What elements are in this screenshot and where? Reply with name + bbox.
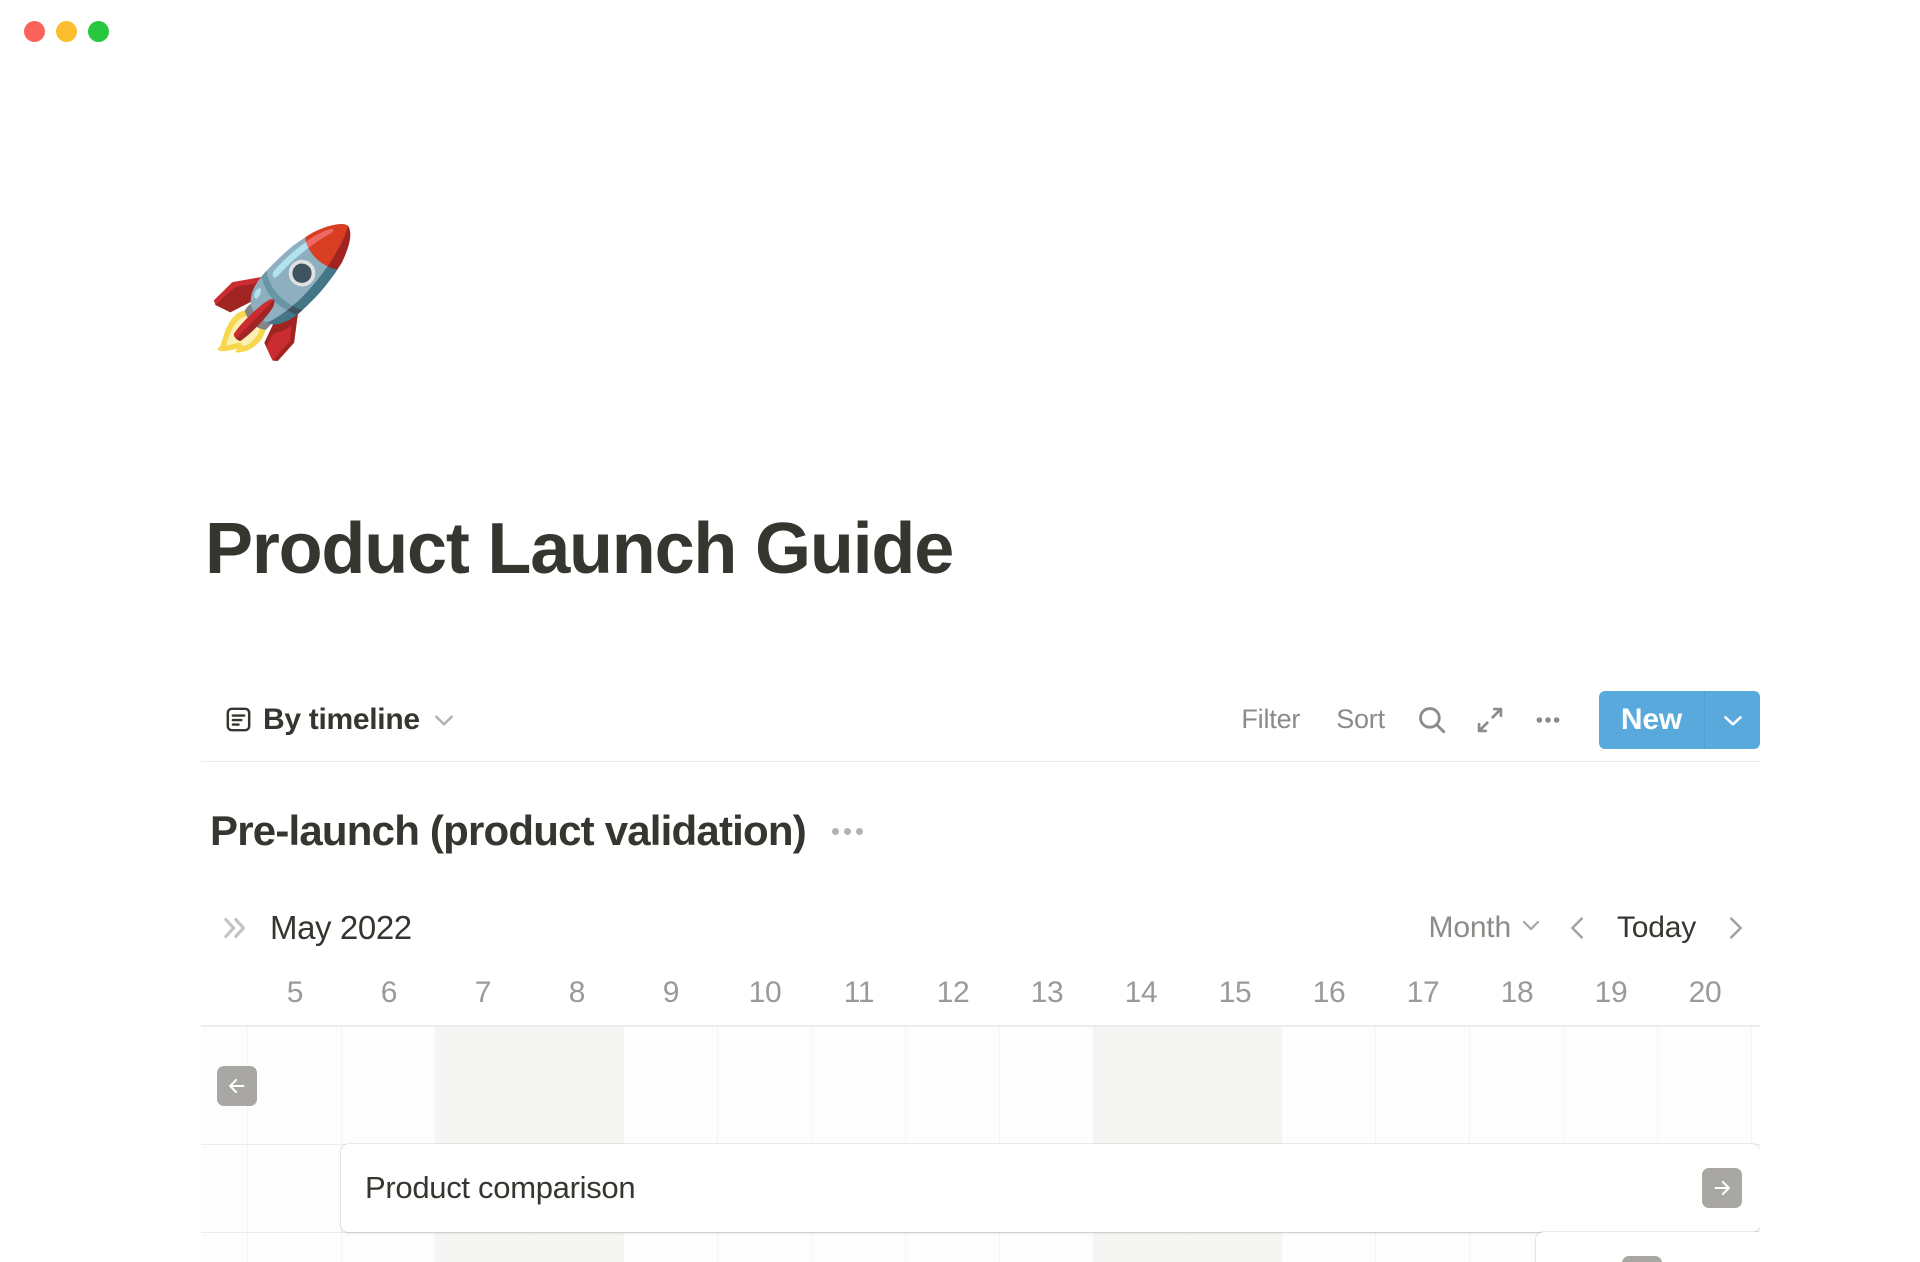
- timeline-day-9: 9: [624, 960, 718, 1025]
- timeline-nav-controls: Month Today: [1419, 905, 1760, 951]
- chevron-down-icon: [431, 707, 457, 733]
- timeline-day-13: 13: [1000, 960, 1094, 1025]
- rocket-icon[interactable]: 🚀: [205, 230, 359, 354]
- new-dropdown-chevron-down-icon[interactable]: [1704, 691, 1760, 749]
- timeline-item-card[interactable]: Competitor: [1536, 1232, 1760, 1262]
- close-window-button[interactable]: [24, 21, 45, 42]
- timeline-nav: May 2022 Month Today: [201, 895, 1760, 961]
- timeline-day-19: 19: [1564, 960, 1658, 1025]
- timeline-day-16: 16: [1282, 960, 1376, 1025]
- timeline-item-scroll-right-button[interactable]: [1622, 1256, 1662, 1262]
- timeline-day-18: 18: [1470, 960, 1564, 1025]
- timeline-day-15: 15: [1188, 960, 1282, 1025]
- view-selector-label: By timeline: [263, 703, 420, 737]
- timeline-day-17: 17: [1376, 960, 1470, 1025]
- timeline-next-button[interactable]: [1710, 905, 1760, 951]
- filter-button[interactable]: Filter: [1223, 698, 1318, 741]
- section-more-horizontal-icon[interactable]: [828, 814, 868, 848]
- timeline-month-label: May 2022: [270, 909, 412, 947]
- timeline-zoom-select[interactable]: Month: [1419, 907, 1553, 949]
- more-horizontal-icon[interactable]: [1519, 695, 1577, 745]
- page-title[interactable]: Product Launch Guide: [205, 508, 953, 590]
- timeline-grid[interactable]: Product comparison Competitor: [201, 1026, 1760, 1262]
- minimize-window-button[interactable]: [56, 21, 77, 42]
- sort-button[interactable]: Sort: [1318, 698, 1403, 741]
- timeline-prev-button[interactable]: [1553, 905, 1603, 951]
- chevron-down-icon: [1519, 911, 1543, 945]
- timeline-item-card[interactable]: Product comparison: [341, 1144, 1760, 1232]
- expand-icon[interactable]: [1461, 695, 1519, 745]
- timeline-day-8: 8: [530, 960, 624, 1025]
- timeline-day-partial: [201, 960, 248, 1025]
- toolbar-actions: Filter Sort: [1223, 691, 1760, 749]
- timeline-day-14: 14: [1094, 960, 1188, 1025]
- search-icon[interactable]: [1403, 695, 1461, 745]
- timeline-scroll-left-button[interactable]: [217, 1066, 257, 1106]
- section-title[interactable]: Pre-launch (product validation): [210, 807, 806, 855]
- timeline-day-10: 10: [718, 960, 812, 1025]
- timeline-day-11: 11: [812, 960, 906, 1025]
- new-button-group: New: [1599, 691, 1760, 749]
- view-selector-by-timeline[interactable]: By timeline: [201, 698, 467, 742]
- timeline-day-7: 7: [436, 960, 530, 1025]
- section-header: Pre-launch (product validation): [210, 807, 868, 855]
- window-titlebar: [0, 0, 1920, 62]
- timeline-day-20: 20: [1658, 960, 1752, 1025]
- page-content: 🚀 Product Launch Guide By timeline Filte…: [0, 62, 1920, 1200]
- new-button[interactable]: New: [1599, 691, 1704, 749]
- timeline-day-12: 12: [906, 960, 1000, 1025]
- timeline-today-button[interactable]: Today: [1603, 907, 1710, 949]
- timeline-day-header: 567891011121314151617181920: [201, 960, 1760, 1026]
- view-toolbar: By timeline Filter Sort: [201, 678, 1760, 762]
- double-chevron-right-icon[interactable]: [216, 909, 254, 947]
- timeline-day-5: 5: [248, 960, 342, 1025]
- maximize-window-button[interactable]: [88, 21, 109, 42]
- timeline-view-icon: [225, 706, 252, 733]
- timeline-item-label: Product comparison: [365, 1170, 635, 1206]
- timeline-zoom-label: Month: [1429, 911, 1511, 945]
- timeline-day-6: 6: [342, 960, 436, 1025]
- timeline-item-scroll-right-button[interactable]: [1702, 1168, 1742, 1208]
